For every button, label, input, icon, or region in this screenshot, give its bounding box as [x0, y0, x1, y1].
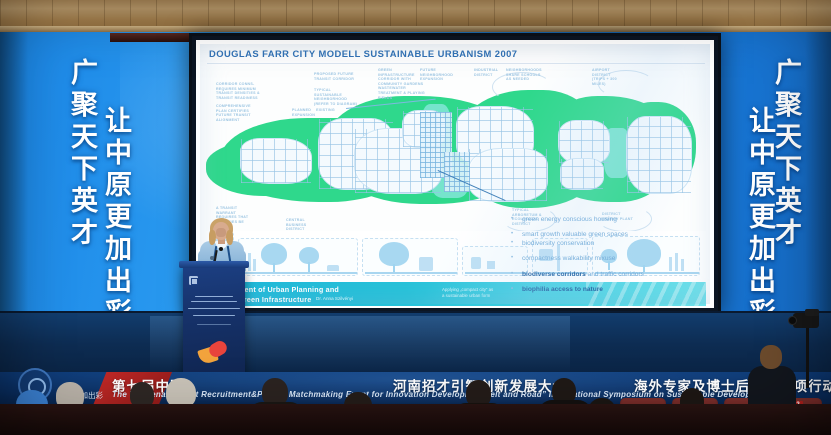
lectern-text-line	[195, 296, 233, 297]
neighborhood-cluster	[468, 148, 548, 202]
diagram-label: COMPREHENSIVE PLAN CERTIFIES FUTURE TRAN…	[216, 104, 251, 122]
diagram-label: NEIGHBORHOODS SHARE SCHOOLS AS NEEDED	[506, 68, 542, 82]
bullet-item-mixed: biodiverse corridors and traffic corrido…	[508, 271, 708, 279]
street-grid	[627, 117, 691, 193]
caption-subtitle-2: a sustainable urban form	[442, 293, 490, 298]
bullet-item: compactness walkability mixuse	[508, 255, 708, 263]
foreground-shadow	[0, 404, 831, 435]
bullet-item-continuation: biodiversity conservation	[508, 240, 708, 248]
lectern-text-line	[197, 324, 231, 325]
diagram-label: FUTURE NEIGHBORHOOD EXPANSION	[420, 68, 453, 82]
diagram-label: TYPICAL SUSTAINABLE NEIGHBORHOOD (REFER …	[314, 88, 357, 106]
bullet-normal-text: and traffic corridors	[586, 271, 644, 278]
wall-slogan-right-2: 让中原更加出彩	[740, 106, 779, 330]
neighborhood-cluster	[560, 158, 604, 190]
lectern-text-line	[193, 315, 235, 316]
presentation-slide: DOUGLAS FARR CITY MODELL SUSTAINABLE URB…	[196, 40, 714, 308]
lectern-text-line	[191, 301, 237, 302]
camera-hood	[805, 309, 819, 316]
bullet-item: biophilia access to nature	[508, 286, 708, 294]
title-divider	[207, 63, 705, 64]
presenter-name: Dr. Anna Szilvényi	[316, 296, 353, 301]
sketch-panel	[238, 238, 358, 276]
diagram-label: GREEN INFRASTRUCTURE CORRIDOR WITH COMMU…	[378, 68, 425, 100]
wall-slogan-left-2: 让中原更加出彩	[96, 106, 135, 330]
bullet-item: green energy conscious housing	[508, 216, 708, 224]
bullet-item: smart growth valuable green spaces	[508, 231, 708, 239]
street-grid	[561, 159, 603, 189]
bullet-bold-text: biodiverse corridors	[522, 271, 586, 278]
lectern-graphic	[199, 342, 229, 364]
lectern-top	[179, 261, 249, 268]
diagram-label: CORRIDOR CONNS- REQUIRES MINIMUM TRANSIT…	[216, 82, 260, 100]
conference-hall-scene: 广聚天下英才 让中原更加出彩 广聚天下英才 让中原更加出彩 DOUGLAS FA…	[0, 0, 831, 435]
central-business-district	[626, 116, 692, 194]
street-grid	[241, 139, 311, 183]
bullet-continuation-text: biodiversity conservation	[522, 240, 594, 247]
speaker-face-shadow	[216, 228, 226, 237]
diagram-label: INDUSTRIAL DISTRICT	[474, 68, 498, 77]
hatched-district	[444, 152, 470, 192]
projection-screen-frame: DOUGLAS FARR CITY MODELL SUSTAINABLE URB…	[189, 33, 721, 315]
sketch-panel	[362, 238, 458, 276]
slide-title: DOUGLAS FARR CITY MODELL SUSTAINABLE URB…	[209, 48, 517, 59]
street-grid	[469, 149, 547, 201]
microphone-icon	[219, 247, 223, 251]
diagram-label: PROPOSED FUTURE TRANSIT CORRIDOR	[314, 72, 354, 81]
tripod-leg	[806, 328, 809, 388]
camera-operator-body	[748, 366, 796, 408]
diagram-label: AIRPORT DISTRICT (TRIPS + 300 MILES)	[592, 68, 617, 86]
diagram-label: PLANNED EXISTING EXPANSION	[292, 108, 335, 117]
speaker-hair-right	[226, 230, 233, 245]
lectern: ​	[183, 266, 245, 374]
camera-lens-icon	[788, 316, 797, 325]
ceiling-panel	[0, 0, 831, 34]
slide-bullet-list: green energy conscious housing smart gro…	[508, 216, 708, 301]
neighborhood-cluster	[240, 138, 312, 184]
lectern-text-line	[188, 308, 240, 309]
city-model-diagram: CORRIDOR CONNS- REQUIRES MINIMUM TRANSIT…	[206, 66, 706, 231]
street-grid	[559, 121, 609, 163]
caption-subtitle-1: Applying „compact city” as	[442, 287, 493, 292]
camera-operator-head	[760, 345, 782, 369]
emblem-icon	[189, 276, 198, 285]
